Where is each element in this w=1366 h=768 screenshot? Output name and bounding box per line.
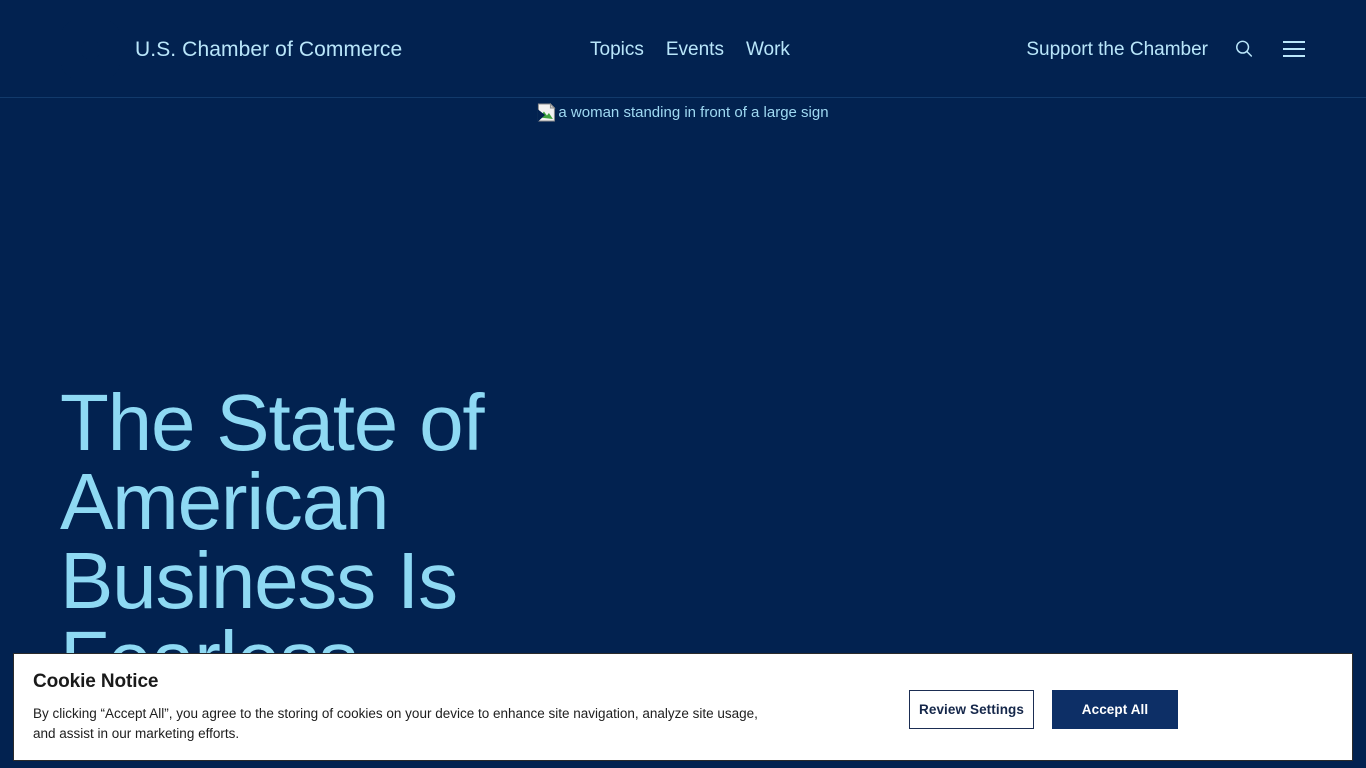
nav-item-topics[interactable]: Topics xyxy=(590,40,644,59)
cookie-notice-body: By clicking “Accept All”, you agree to t… xyxy=(33,704,759,744)
accept-all-button[interactable]: Accept All xyxy=(1052,690,1178,729)
primary-nav: Topics Events Work xyxy=(590,0,790,98)
brand-name: U.S. Chamber of Commerce xyxy=(135,39,402,60)
page-title: The State of American Business Is Fearle… xyxy=(60,383,680,699)
nav-item-events[interactable]: Events xyxy=(666,40,724,59)
hero-image-broken-placeholder: a woman standing in front of a large sig… xyxy=(537,103,828,122)
cookie-notice-text: Cookie Notice By clicking “Accept All”, … xyxy=(33,671,793,744)
hero-image-alt-text: a woman standing in front of a large sig… xyxy=(558,103,828,122)
chamber-starburst-logo-icon xyxy=(60,19,121,80)
support-the-chamber-link[interactable]: Support the Chamber xyxy=(1026,40,1208,59)
hero-copy: The State of American Business Is Fearle… xyxy=(60,383,680,699)
search-icon[interactable] xyxy=(1230,35,1258,63)
page-root: U.S. Chamber of Commerce Topics Events W… xyxy=(0,0,1366,768)
brand-home-link[interactable]: U.S. Chamber of Commerce xyxy=(60,0,402,98)
cookie-notice-banner: Cookie Notice By clicking “Accept All”, … xyxy=(13,653,1353,761)
broken-image-icon xyxy=(537,103,555,122)
header-actions: Support the Chamber xyxy=(1026,0,1308,98)
nav-item-work[interactable]: Work xyxy=(746,40,790,59)
cookie-notice-title: Cookie Notice xyxy=(33,671,793,693)
site-header: U.S. Chamber of Commerce Topics Events W… xyxy=(0,0,1366,98)
hamburger-menu-icon[interactable] xyxy=(1280,35,1308,63)
review-settings-button[interactable]: Review Settings xyxy=(909,690,1034,729)
cookie-notice-actions: Review Settings Accept All xyxy=(909,690,1178,729)
